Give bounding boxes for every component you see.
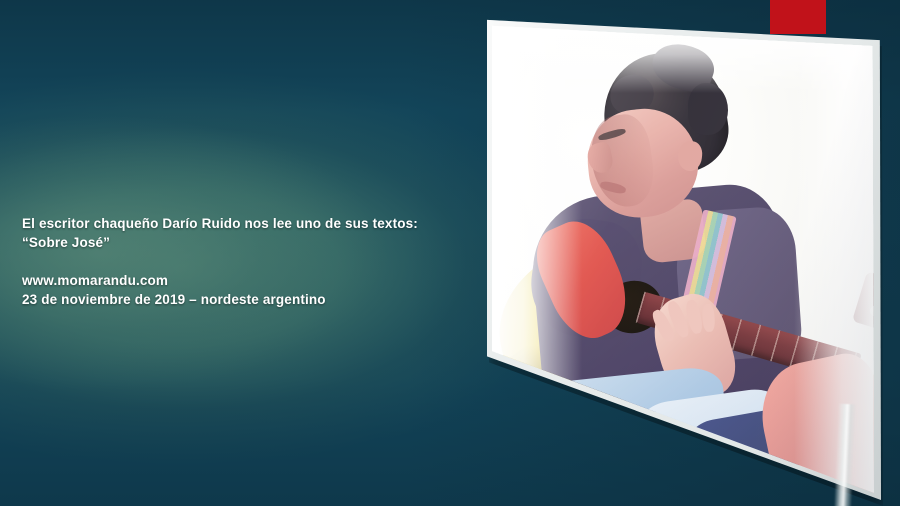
- photo-artwork: [492, 23, 874, 493]
- fretting-finger: [702, 303, 716, 332]
- slide-canvas: El escritor chaqueño Darío Ruido nos lee…: [0, 0, 900, 506]
- caption-dateline: 23 de noviembre de 2019 – nordeste argen…: [22, 290, 474, 309]
- tuning-peg: [869, 304, 874, 318]
- caption-block: El escritor chaqueño Darío Ruido nos lee…: [22, 214, 474, 309]
- photo-card: [487, 18, 881, 500]
- tuning-peg: [872, 280, 874, 294]
- caption-headline-line2: “Sobre José”: [22, 233, 474, 252]
- caption-headline-line1: El escritor chaqueño Darío Ruido nos lee…: [22, 214, 474, 233]
- photo-frame-border: [487, 18, 881, 500]
- photo-image: [492, 23, 874, 493]
- caption-website: www.momarandu.com: [22, 271, 474, 290]
- caption-spacer: [22, 252, 474, 271]
- subject-hair-curl-back: [688, 83, 728, 135]
